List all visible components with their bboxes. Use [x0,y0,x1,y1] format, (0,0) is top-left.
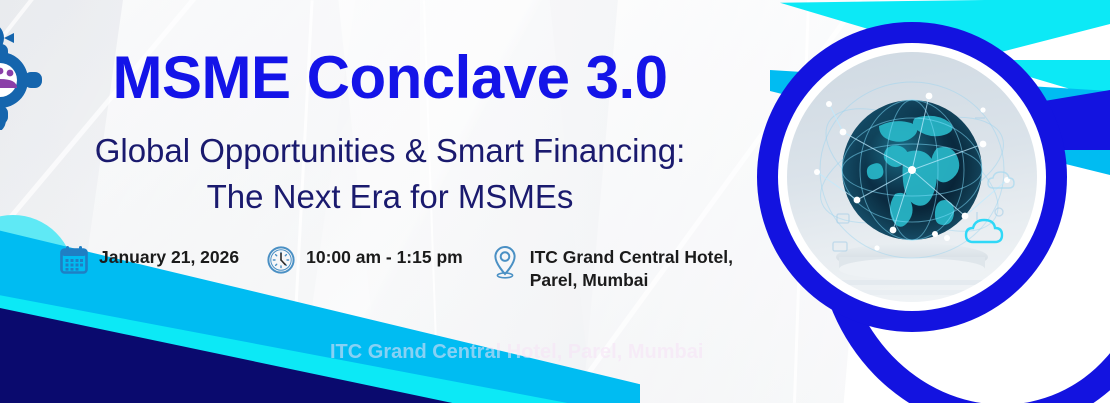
globe-medallion-inner [778,43,1046,311]
event-time-item: 10:00 am - 1:15 pm [265,243,463,281]
event-date-item: January 21, 2026 [58,243,239,281]
subtitle-line-1: Global Opportunities & Smart Financing: [0,128,780,174]
event-venue-item: ITC Grand Central Hotel, Parel, Mumbai [489,243,733,292]
event-time-label: 10:00 am - 1:15 pm [306,243,463,269]
event-date-label: January 21, 2026 [99,243,239,269]
event-banner: ITC Grand Central Hotel, Parel, Mumbai M… [0,0,1110,403]
event-details-row: January 21, 2026 10: [58,243,733,292]
event-venue-line-1: ITC Grand Central Hotel, [530,247,733,267]
calendar-icon [58,244,90,281]
page-subtitle: Global Opportunities & Smart Financing: … [0,128,780,219]
clock-icon [265,244,297,281]
location-pin-icon [489,244,521,285]
page-title: MSME Conclave 3.0 [0,48,780,108]
event-venue-line-2: Parel, Mumbai [530,270,649,290]
event-venue-label: ITC Grand Central Hotel, Parel, Mumbai [530,243,733,292]
subtitle-line-2: The Next Era for MSMEs [0,174,780,220]
globe-medallion-ring [757,22,1067,332]
digital-globe-network-icon [787,52,1037,302]
